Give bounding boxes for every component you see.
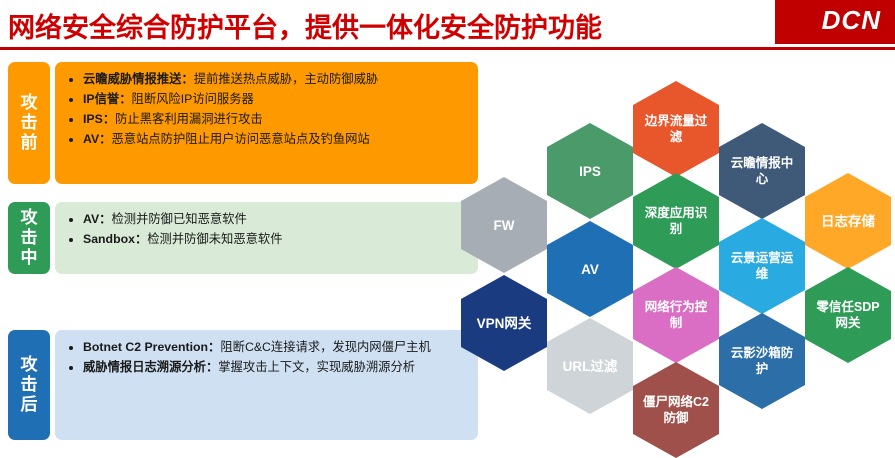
hex-node[interactable]: FW xyxy=(461,177,547,273)
bullet-desc: 恶意站点防护阻止用户访问恶意站点及钓鱼网站 xyxy=(111,132,369,146)
bullet-sep: ： xyxy=(103,112,115,126)
bullet-term: Sandbox xyxy=(83,232,135,246)
list-item: AV：恶意站点防护阻止用户访问恶意站点及钓鱼网站 xyxy=(83,131,468,148)
hex-node[interactable]: 边界流量过滤 xyxy=(633,81,719,177)
bullet-desc: 防止黑客利用漏洞进行攻击 xyxy=(115,112,263,126)
list-item: 云瞻威胁情报推送：提前推送热点威胁，主动防御威胁 xyxy=(83,71,468,88)
hex-node-label: 云瞻情报中心 xyxy=(728,155,796,187)
page-title: 网络安全综合防护平台，提供一体化安全防护功能 xyxy=(8,6,602,45)
phase-tab-during-attack: 攻击中 xyxy=(8,202,50,274)
bullet-sep: ： xyxy=(99,212,111,226)
hex-node-label: 网络行为控制 xyxy=(642,299,710,331)
hex-node[interactable]: 云影沙箱防护 xyxy=(719,313,805,409)
hex-node[interactable]: AV xyxy=(547,221,633,317)
phase-body-during-attack: AV：检测并防御已知恶意软件 Sandbox：检测并防御未知恶意软件 xyxy=(55,202,478,274)
hex-node-label: 云影沙箱防护 xyxy=(728,345,796,377)
capability-hex-cluster: 边界流量过滤云瞻情报中心IPS深度应用识别日志存储FW云景运营运维AV网络行为控… xyxy=(455,55,895,450)
hex-node[interactable]: IPS xyxy=(547,123,633,219)
bullet-term: 威胁情报日志溯源分析 xyxy=(83,360,206,374)
bullet-term: Botnet C2 Prevention xyxy=(83,340,208,354)
bullet-desc: 检测并防御未知恶意软件 xyxy=(147,232,282,246)
hex-node[interactable]: 云瞻情报中心 xyxy=(719,123,805,219)
bullet-desc: 检测并防御已知恶意软件 xyxy=(111,212,246,226)
phase-bullet-list-during: AV：检测并防御已知恶意软件 Sandbox：检测并防御未知恶意软件 xyxy=(69,211,468,248)
list-item: Botnet C2 Prevention：阻断C&C连接请求，发现内网僵尸主机 xyxy=(83,339,468,356)
list-item: AV：检测并防御已知恶意软件 xyxy=(83,211,468,228)
phase-body-post-attack: Botnet C2 Prevention：阻断C&C连接请求，发现内网僵尸主机 … xyxy=(55,330,478,440)
phase-tab-label-during: 攻击中 xyxy=(19,208,39,268)
bullet-sep: ： xyxy=(99,132,111,146)
bullet-sep: ： xyxy=(119,92,131,106)
hex-node[interactable]: 日志存储 xyxy=(805,173,891,269)
bullet-term: IP信誉 xyxy=(83,92,119,106)
hex-node-label: 零信任SDP网关 xyxy=(814,299,882,331)
bullet-term: AV xyxy=(83,212,99,226)
brand-logo-box: DCN xyxy=(775,0,895,44)
phase-body-pre-attack: 云瞻威胁情报推送：提前推送热点威胁，主动防御威胁 IP信誉：阻断风险IP访问服务… xyxy=(55,62,478,184)
hex-node[interactable]: 深度应用识别 xyxy=(633,173,719,269)
list-item: IPS：防止黑客利用漏洞进行攻击 xyxy=(83,111,468,128)
bullet-sep: ： xyxy=(206,360,218,374)
bullet-desc: 掌握攻击上下文，实现威胁溯源分析 xyxy=(218,360,415,374)
hex-node[interactable]: 零信任SDP网关 xyxy=(805,267,891,363)
hex-node[interactable]: VPN网关 xyxy=(461,275,547,371)
page-header: 网络安全综合防护平台，提供一体化安全防护功能 DCN xyxy=(0,0,895,52)
hex-node[interactable]: URL过滤 xyxy=(547,318,633,414)
list-item: 威胁情报日志溯源分析：掌握攻击上下文，实现威胁溯源分析 xyxy=(83,359,468,376)
brand-logo-text: DCN xyxy=(822,5,881,36)
phase-block-pre-attack: 攻击前 云瞻威胁情报推送：提前推送热点威胁，主动防御威胁 IP信誉：阻断风险IP… xyxy=(8,62,478,184)
hex-node-label: AV xyxy=(581,261,599,278)
hex-node-label: 僵尸网络C2防御 xyxy=(642,394,710,426)
bullet-sep: ： xyxy=(135,232,147,246)
phase-tab-label-post: 攻击后 xyxy=(19,355,39,415)
list-item: Sandbox：检测并防御未知恶意软件 xyxy=(83,231,468,248)
hex-node-label: 深度应用识别 xyxy=(642,205,710,237)
hex-node-label: IPS xyxy=(579,163,601,180)
bullet-term: AV xyxy=(83,132,99,146)
bullet-term: 云瞻威胁情报推送 xyxy=(83,72,181,86)
hex-node[interactable]: 僵尸网络C2防御 xyxy=(633,362,719,458)
hex-node-label: VPN网关 xyxy=(477,315,532,332)
hex-node[interactable]: 云景运营运维 xyxy=(719,218,805,314)
hex-node-label: FW xyxy=(494,217,515,234)
phase-bullet-list-pre: 云瞻威胁情报推送：提前推送热点威胁，主动防御威胁 IP信誉：阻断风险IP访问服务… xyxy=(69,71,468,148)
header-divider xyxy=(0,47,895,50)
bullet-desc: 阻断C&C连接请求，发现内网僵尸主机 xyxy=(220,340,430,354)
hex-node-label: 日志存储 xyxy=(821,213,875,230)
phase-bullet-list-post: Botnet C2 Prevention：阻断C&C连接请求，发现内网僵尸主机 … xyxy=(69,339,468,376)
bullet-desc: 阻断风险IP访问服务器 xyxy=(132,92,254,106)
hex-node-label: 边界流量过滤 xyxy=(642,113,710,145)
hex-node[interactable]: 网络行为控制 xyxy=(633,267,719,363)
hex-node-label: URL过滤 xyxy=(563,358,618,375)
bullet-desc: 提前推送热点威胁，主动防御威胁 xyxy=(194,72,378,86)
hex-node-label: 云景运营运维 xyxy=(728,250,796,282)
phase-tab-label-pre: 攻击前 xyxy=(19,93,39,153)
phase-block-post-attack: 攻击后 Botnet C2 Prevention：阻断C&C连接请求，发现内网僵… xyxy=(8,330,478,440)
phase-tab-post-attack: 攻击后 xyxy=(8,330,50,440)
list-item: IP信誉：阻断风险IP访问服务器 xyxy=(83,91,468,108)
bullet-sep: ： xyxy=(181,72,193,86)
bullet-sep: ： xyxy=(208,340,220,354)
bullet-term: IPS xyxy=(83,112,103,126)
phase-block-during-attack: 攻击中 AV：检测并防御已知恶意软件 Sandbox：检测并防御未知恶意软件 xyxy=(8,202,478,274)
phase-tab-pre-attack: 攻击前 xyxy=(8,62,50,184)
